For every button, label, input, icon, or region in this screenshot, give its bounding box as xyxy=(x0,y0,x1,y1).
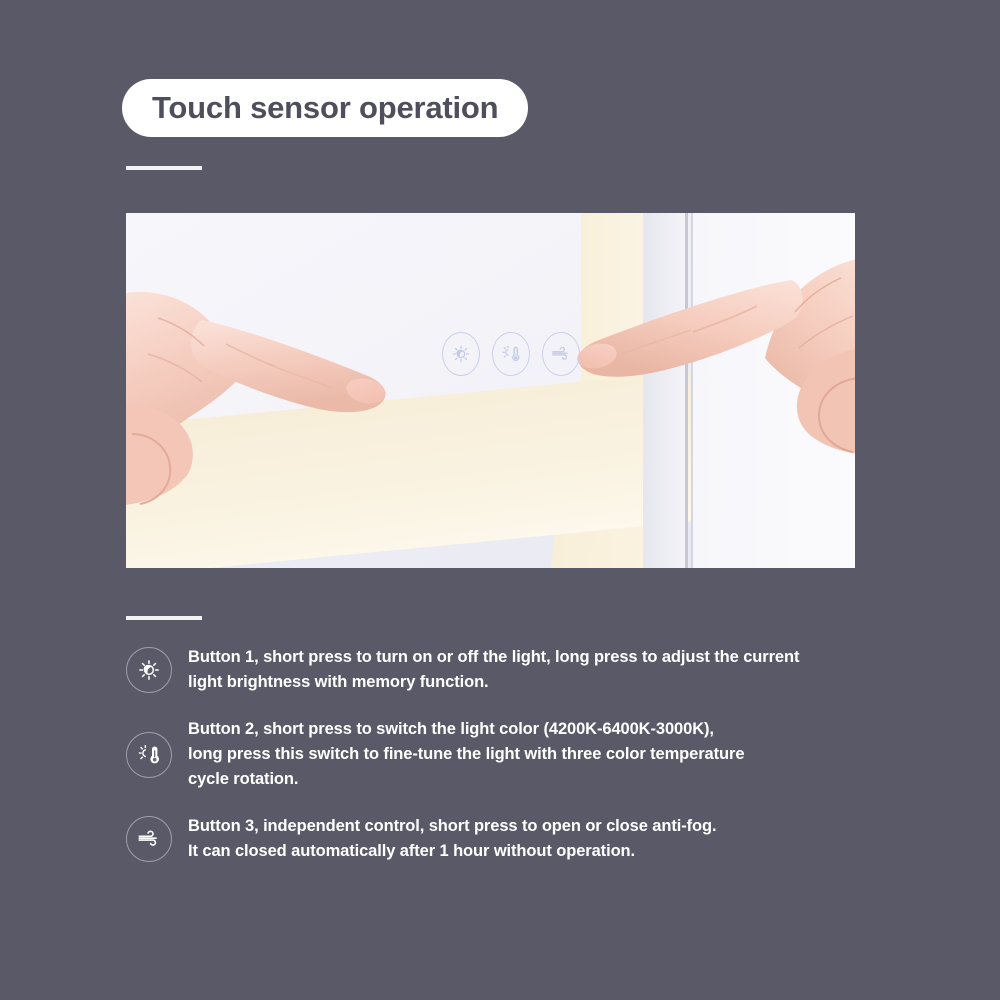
touch-button-color-temperature[interactable] xyxy=(492,332,530,376)
divider-middle xyxy=(126,616,202,620)
feature-item-button-2: Button 2, short press to switch the ligh… xyxy=(126,717,896,792)
touch-sensor-button-group[interactable] xyxy=(442,332,580,376)
touch-button-anti-fog[interactable] xyxy=(542,332,580,376)
feature-text-button-1: Button 1, short press to turn on or off … xyxy=(188,645,799,695)
wind-defog-icon xyxy=(126,816,172,862)
feature-text-button-3: Button 3, independent control, short pre… xyxy=(188,814,716,864)
feature-line: cycle rotation. xyxy=(188,767,744,792)
feature-item-button-1: Button 1, short press to turn on or off … xyxy=(126,645,896,695)
page-title: Touch sensor operation xyxy=(152,90,498,126)
feature-line: long press this switch to fine-tune the … xyxy=(188,742,744,767)
sun-thermometer-icon xyxy=(126,732,172,778)
divider-top xyxy=(126,166,202,170)
feature-text-button-2: Button 2, short press to switch the ligh… xyxy=(188,717,744,792)
feature-line: Button 2, short press to switch the ligh… xyxy=(188,717,744,742)
feature-line: It can closed automatically after 1 hour… xyxy=(188,839,716,864)
feature-line: Button 3, independent control, short pre… xyxy=(188,814,716,839)
product-photo xyxy=(126,213,855,568)
feature-line: light brightness with memory function. xyxy=(188,670,799,695)
sun-brightness-icon xyxy=(126,647,172,693)
touch-button-brightness[interactable] xyxy=(442,332,480,376)
right-hand xyxy=(541,228,855,488)
feature-list: Button 1, short press to turn on or off … xyxy=(126,645,896,887)
feature-line: Button 1, short press to turn on or off … xyxy=(188,645,799,670)
left-hand xyxy=(126,258,418,508)
feature-item-button-3: Button 3, independent control, short pre… xyxy=(126,814,896,864)
page-title-pill: Touch sensor operation xyxy=(122,79,528,137)
